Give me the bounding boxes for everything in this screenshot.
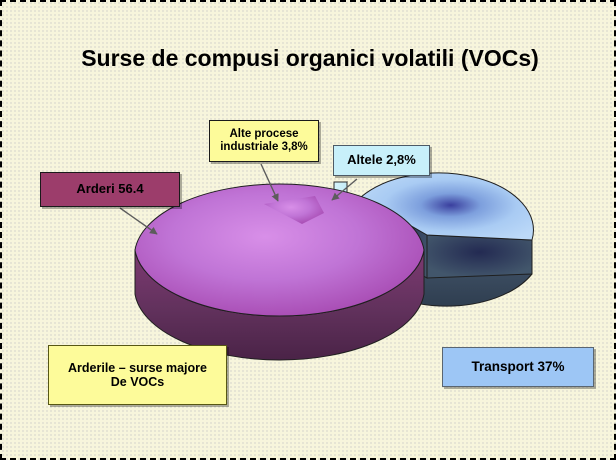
slide-canvas: Surse de compusi organici volatili (VOCs…: [0, 0, 616, 460]
callout-transport[interactable]: Transport 37%: [442, 347, 594, 387]
callout-alte-procese-text: Alte procese industriale 3,8%: [220, 128, 308, 154]
callout-altele[interactable]: Altele 2,8%: [333, 145, 430, 176]
pie-slice-arderi: [135, 184, 424, 360]
leader-line-arderi: [120, 208, 157, 234]
callout-arderi-text: Arderi 56.4: [76, 182, 143, 197]
callout-arderi[interactable]: Arderi 56.4: [40, 172, 180, 207]
callout-arderile-surse-majore[interactable]: Arderile – surse majore De VOCs: [48, 345, 227, 405]
callout-altele-text: Altele 2,8%: [347, 153, 416, 168]
callout-transport-text: Transport 37%: [471, 359, 564, 374]
callout-alte-procese[interactable]: Alte procese industriale 3,8%: [209, 120, 319, 162]
callout-arderile-major-text: Arderile – surse majore De VOCs: [68, 361, 207, 389]
